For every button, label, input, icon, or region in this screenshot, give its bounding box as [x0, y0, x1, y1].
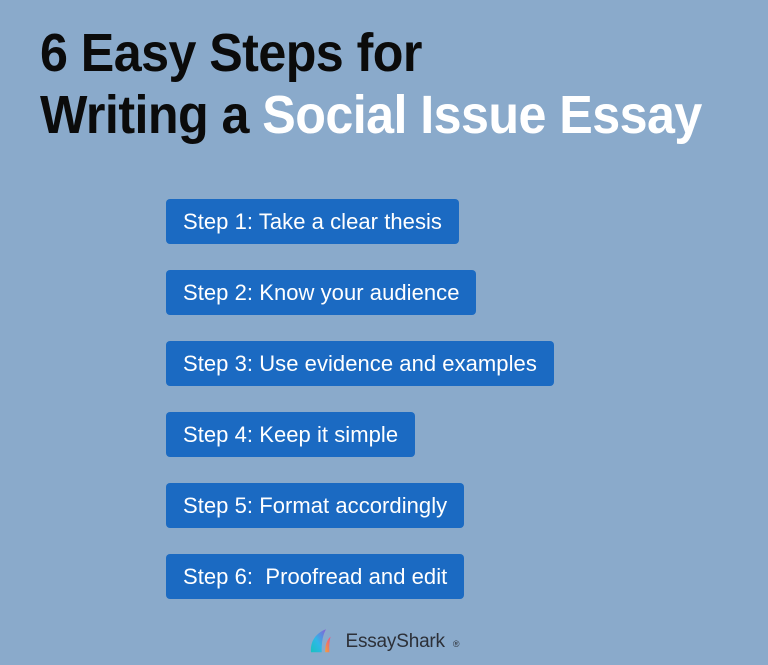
page-title: 6 Easy Steps for Writing a Social Issue …	[40, 22, 752, 146]
step-label-1: Step 1: Take a clear thesis	[183, 211, 442, 233]
step-item-5[interactable]: Step 5: Format accordingly	[166, 483, 464, 528]
step-label-3: Step 3: Use evidence and examples	[183, 353, 537, 375]
title-line-2: Writing a Social Issue Essay	[40, 84, 702, 146]
brand-logo[interactable]: EssayShark ®	[0, 628, 768, 655]
step-item-4[interactable]: Step 4: Keep it simple	[166, 412, 415, 457]
step-item-3[interactable]: Step 3: Use evidence and examples	[166, 341, 554, 386]
registered-trademark-mark: ®	[453, 640, 460, 649]
step-item-2[interactable]: Step 2: Know your audience	[166, 270, 476, 315]
title-line-2-prefix: Writing a	[40, 85, 262, 145]
title-line-1: 6 Easy Steps for	[40, 22, 702, 84]
infographic-poster: 6 Easy Steps for Writing a Social Issue …	[0, 0, 768, 665]
step-label-6: Step 6: Proofread and edit	[183, 566, 447, 588]
step-item-1[interactable]: Step 1: Take a clear thesis	[166, 199, 459, 244]
step-label-2: Step 2: Know your audience	[183, 282, 459, 304]
step-label-4: Step 4: Keep it simple	[183, 424, 398, 446]
step-label-5: Step 5: Format accordingly	[183, 495, 447, 517]
step-item-6[interactable]: Step 6: Proofread and edit	[166, 554, 464, 599]
title-line-2-accent: Social Issue Essay	[262, 85, 701, 145]
steps-list: Step 1: Take a clear thesis Step 2: Know…	[166, 199, 554, 599]
brand-name: EssayShark	[345, 632, 444, 651]
essayshark-fin-icon	[308, 628, 338, 655]
